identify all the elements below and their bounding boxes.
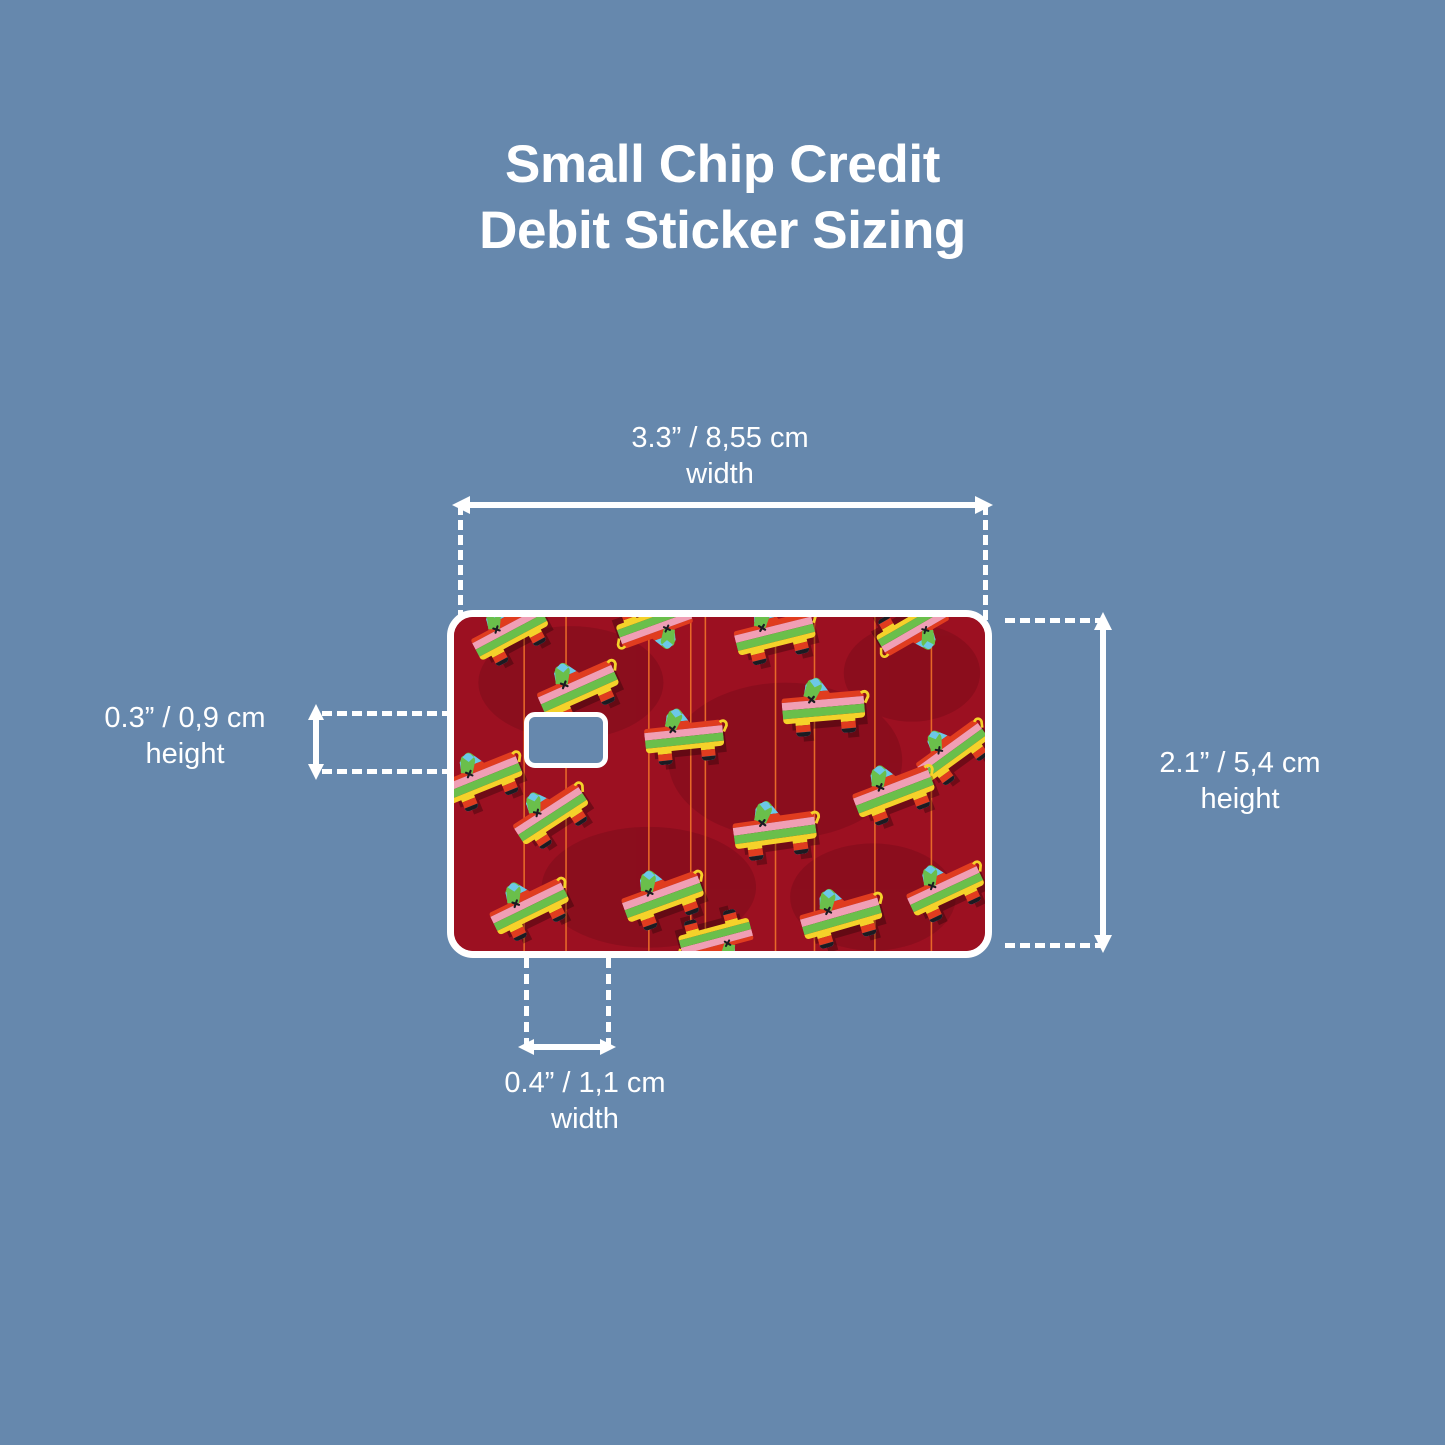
sizing-diagram: Small Chip Credit Debit Sticker Sizing 3… bbox=[0, 0, 1445, 1445]
dimension-axis-chip-width: width bbox=[440, 1101, 730, 1137]
dimension-measure-card-height: 2.1” / 5,4 cm bbox=[1159, 747, 1320, 779]
page-title-line-2: Debit Sticker Sizing bbox=[0, 198, 1445, 264]
dimension-axis-card-width: width bbox=[485, 456, 955, 492]
dimension-axis-chip-height: height bbox=[60, 736, 310, 772]
dimension-arrow-chip-width bbox=[516, 1032, 618, 1062]
extension-line-top-right bbox=[983, 505, 988, 620]
page-title-line-1: Small Chip Credit bbox=[0, 132, 1445, 198]
dimension-measure-chip-height: 0.3” / 0,9 cm bbox=[104, 702, 265, 734]
dimension-label-chip-height: 0.3” / 0,9 cm height bbox=[60, 700, 310, 772]
dimension-arrow-card-width bbox=[450, 488, 995, 522]
dimension-measure-card-width: 3.3” / 8,55 cm bbox=[631, 422, 808, 454]
dimension-label-chip-width: 0.4” / 1,1 cm width bbox=[440, 1065, 730, 1137]
dimension-arrow-chip-height bbox=[301, 702, 331, 782]
extension-line-top-left bbox=[458, 505, 463, 620]
dimension-arrow-card-height bbox=[1088, 610, 1118, 955]
chip-cutout-window bbox=[524, 712, 608, 768]
page-title: Small Chip Credit Debit Sticker Sizing bbox=[0, 132, 1445, 264]
dimension-measure-chip-width: 0.4” / 1,1 cm bbox=[504, 1067, 665, 1099]
credit-debit-card-sticker[interactable] bbox=[447, 610, 992, 958]
dimension-axis-card-height: height bbox=[1120, 781, 1360, 817]
dimension-label-card-height: 2.1” / 5,4 cm height bbox=[1120, 745, 1360, 817]
dimension-label-card-width: 3.3” / 8,55 cm width bbox=[485, 420, 955, 492]
pinata-pattern-artwork bbox=[454, 617, 985, 951]
